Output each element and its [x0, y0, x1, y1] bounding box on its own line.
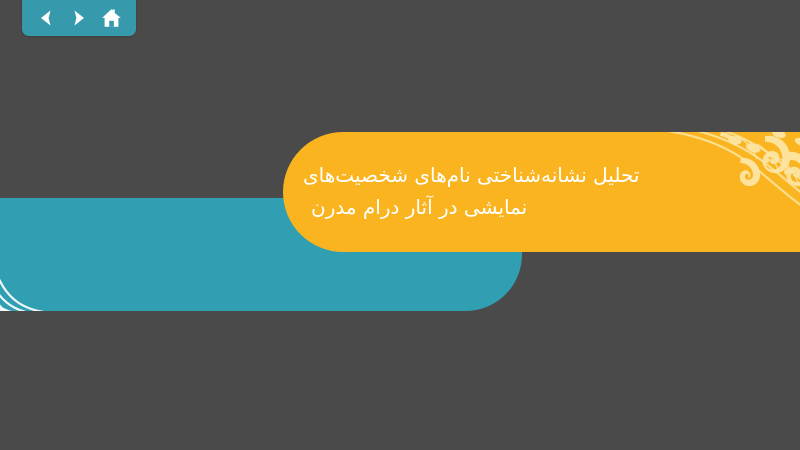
slide-title-line-2: نمایشی در آثار درام مدرن — [303, 192, 527, 224]
triangle-left-icon — [35, 7, 57, 29]
home-button[interactable] — [99, 5, 125, 31]
previous-slide-button[interactable] — [33, 5, 59, 31]
arabesque-corner-ornament — [0, 198, 144, 311]
slide-navigation-bar[interactable] — [22, 0, 136, 36]
triangle-right-icon — [68, 7, 90, 29]
next-slide-button[interactable] — [66, 5, 92, 31]
slide-title-line-1: تحلیل نشانه‌شناختی نام‌های شخصیت‌های — [303, 160, 639, 192]
home-icon — [100, 7, 123, 30]
slide-title: تحلیل نشانه‌شناختی نام‌های شخصیت‌های نما… — [283, 132, 800, 252]
presentation-slide: تحلیل نشانه‌شناختی نام‌های شخصیت‌های نما… — [0, 0, 800, 450]
